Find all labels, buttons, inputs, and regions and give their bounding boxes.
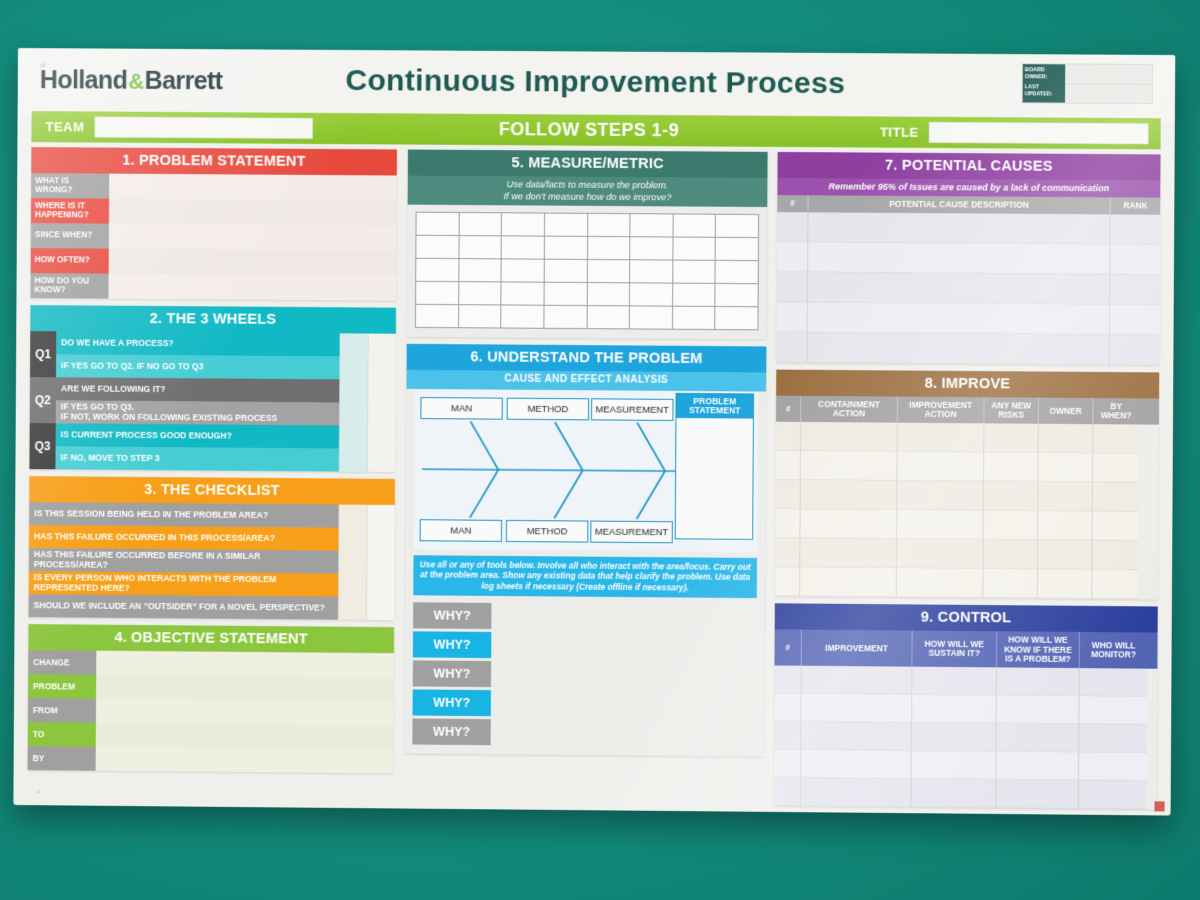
potential-causes-cell[interactable] — [777, 243, 807, 273]
board-owner-label: BOARD OWNER: — [1025, 67, 1063, 80]
section-2-yes-column[interactable] — [339, 333, 368, 471]
improve-cell[interactable] — [776, 451, 800, 480]
section-2-body: Q1Q2Q3 DO WE HAVE A PROCESS?IF YES GO TO… — [29, 331, 395, 472]
potential-causes-cell[interactable] — [1110, 215, 1161, 245]
section-3-checklist-item: HAS THIS FAILURE OCCURRED IN THIS PROCES… — [29, 525, 339, 551]
board-owner-input[interactable] — [1065, 64, 1152, 84]
section-1-row-label: HOW OFTEN? — [31, 248, 109, 274]
table-row — [775, 568, 1158, 600]
section-1-problem-statement: 1. PROBLEM STATEMENT WHAT IS WRONG?WHERE… — [30, 147, 396, 301]
measure-grid-cell[interactable] — [587, 283, 630, 306]
control-cell[interactable] — [1078, 724, 1147, 753]
measure-grid-cell[interactable] — [673, 237, 716, 260]
improve-col-header: CONTAINMENT ACTION — [800, 396, 897, 423]
section-2-title: 2. THE 3 WHEELS — [30, 305, 396, 334]
section-8-table-header: #CONTAINMENT ACTIONIMPROVEMENT ACTIONANY… — [776, 396, 1159, 425]
control-cell[interactable] — [1078, 752, 1147, 781]
column-right: 7. POTENTIAL CAUSES Remember 95% of Issu… — [774, 152, 1161, 816]
control-cell[interactable] — [774, 749, 800, 777]
table-row — [776, 451, 1159, 483]
measure-grid-row — [416, 212, 759, 237]
table-row — [775, 539, 1158, 571]
measure-grid-cell[interactable] — [587, 306, 630, 329]
title-label: TITLE — [866, 124, 929, 139]
why-label: WHY? — [413, 689, 491, 716]
control-cell[interactable] — [800, 750, 911, 779]
fishbone-effect-box[interactable]: PROBLEM STATEMENT — [675, 392, 754, 539]
why-input[interactable] — [491, 719, 756, 747]
why-label: WHY? — [413, 602, 491, 629]
potential-causes-cell[interactable] — [1109, 305, 1160, 335]
potential-causes-cell[interactable] — [1109, 245, 1160, 275]
improve-cell[interactable] — [1092, 483, 1139, 512]
table-row — [777, 243, 1160, 276]
measure-grid-cell[interactable] — [544, 305, 587, 328]
board-owner-labels: BOARD OWNER: LAST UPDATED: — [1023, 64, 1066, 102]
team-input[interactable] — [94, 116, 312, 138]
control-col-header: # — [775, 630, 801, 666]
table-row — [775, 510, 1158, 542]
potential-causes-cell[interactable] — [807, 333, 1109, 365]
section-1-row-label: WHERE IS IT HAPPENING? — [31, 198, 109, 224]
potential-causes-cell[interactable] — [777, 273, 807, 303]
improve-col-header: BY WHEN? — [1092, 398, 1139, 425]
improve-cell[interactable] — [799, 568, 896, 598]
measure-grid-cell[interactable] — [544, 236, 587, 259]
section-1-row: HOW OFTEN? — [31, 248, 397, 276]
control-cell[interactable] — [911, 666, 996, 695]
control-cell[interactable] — [774, 693, 800, 721]
section-2-statement: DO WE HAVE A PROCESS? — [56, 331, 340, 356]
measure-grid-cell[interactable] — [716, 237, 759, 260]
fishbone-diagram[interactable]: MAN METHOD MEASUREMENT MAN METHOD MEASUR… — [414, 388, 759, 551]
why-row: WHY? — [413, 660, 757, 689]
potential-causes-cell[interactable] — [777, 303, 807, 333]
section-4-row: TO — [28, 722, 394, 749]
measure-grid-row — [416, 235, 759, 260]
improve-col-header: ANY NEW RISKS — [983, 398, 1038, 425]
five-whys-list: WHY?WHY?WHY?WHY?WHY? — [404, 602, 764, 747]
measure-grid-cell[interactable] — [630, 260, 673, 283]
potential-causes-cell[interactable] — [777, 212, 807, 242]
control-cell[interactable] — [995, 780, 1078, 809]
section-2-statement-rows: DO WE HAVE A PROCESS?IF YES GO TO Q2. IF… — [55, 331, 339, 471]
team-label: TEAM — [31, 119, 94, 134]
control-cell[interactable] — [800, 665, 911, 694]
improve-cell[interactable] — [799, 539, 896, 569]
improve-cell[interactable] — [1092, 512, 1139, 541]
control-cell[interactable] — [800, 722, 911, 751]
table-row — [777, 303, 1160, 336]
section-2-three-wheels: 2. THE 3 WHEELS Q1Q2Q3 DO WE HAVE A PROC… — [29, 305, 396, 472]
measure-grid-cell[interactable] — [715, 306, 758, 329]
measure-grid-cell[interactable] — [416, 235, 459, 258]
improve-cell[interactable] — [776, 422, 800, 451]
control-cell[interactable] — [911, 694, 996, 723]
potential-causes-cell[interactable] — [776, 333, 806, 363]
table-row — [776, 333, 1159, 366]
why-label: WHY? — [413, 631, 491, 658]
section-8-title: 8. IMPROVE — [776, 370, 1159, 399]
measure-grid-cell[interactable] — [459, 236, 502, 259]
section-2-statement: IS CURRENT PROCESS GOOD ENOUGH? — [56, 423, 340, 448]
section-2-question-column: Q1Q2Q3 — [29, 331, 56, 469]
section-1-row: HOW DO YOU KNOW? — [30, 273, 396, 301]
measure-grid-cell[interactable] — [458, 259, 501, 282]
section-3-checklist-item: IS THIS SESSION BEING HELD IN THE PROBLE… — [29, 502, 339, 527]
measure-grid-cell[interactable] — [672, 306, 715, 329]
section-2-statement: IF NO, MOVE TO STEP 3 — [55, 446, 339, 471]
section-1-row: WHAT IS WRONG? — [31, 173, 397, 200]
table-row — [774, 721, 1157, 752]
measure-grid-cell[interactable] — [630, 283, 673, 306]
table-row — [774, 693, 1157, 724]
section-3-checklist: 3. THE CHECKLIST IS THIS SESSION BEING H… — [29, 476, 395, 620]
last-updated-input[interactable] — [1065, 84, 1152, 103]
section-7-title: 7. POTENTIAL CAUSES — [777, 152, 1160, 181]
section-4-row-input[interactable] — [96, 747, 394, 774]
section-4-title: 4. OBJECTIVE STATEMENT — [28, 624, 394, 653]
section-2-answer-columns[interactable] — [339, 333, 396, 472]
section-4-row-label: BY — [28, 746, 96, 771]
section-4-row: CHANGE — [28, 650, 394, 677]
control-cell[interactable] — [1078, 696, 1147, 725]
improve-cell[interactable] — [896, 452, 983, 482]
bone-bottom-3[interactable]: MEASUREMENT — [590, 520, 673, 543]
section-6-title: 6. UNDERSTAND THE PROBLEM — [407, 344, 767, 373]
improve-cell[interactable] — [1037, 482, 1092, 512]
section-3-answer-columns[interactable] — [338, 505, 395, 621]
section-2-statement: IF YES GO TO Q2. IF NO GO TO Q3 — [56, 354, 340, 379]
section-5-title: 5. MEASURE/METRIC — [408, 150, 768, 178]
section-2-statement: IF YES GO TO Q3. IF NOT, WORK ON FOLLOWI… — [56, 400, 340, 425]
control-col-header: HOW WILL WE KNOW IF THERE IS A PROBLEM? — [996, 632, 1079, 668]
measure-grid-cell[interactable] — [544, 282, 587, 305]
improve-cell[interactable] — [896, 510, 983, 540]
control-cell[interactable] — [995, 751, 1078, 780]
measure-grid-cell[interactable] — [416, 212, 459, 235]
control-col-header: WHO WILL MONITOR? — [1079, 632, 1148, 668]
column-left: 1. PROBLEM STATEMENT WHAT IS WRONG?WHERE… — [28, 147, 397, 780]
measure-grid-cell[interactable] — [715, 260, 758, 283]
control-cell[interactable] — [800, 778, 911, 807]
section-3-title: 3. THE CHECKLIST — [29, 476, 395, 505]
measure-grid-cell[interactable] — [673, 214, 716, 237]
bone-top-1[interactable]: MAN — [420, 397, 502, 420]
measure-grid-cell[interactable] — [587, 236, 630, 259]
measure-grid-cell[interactable] — [672, 283, 715, 306]
section-4-row-input[interactable] — [96, 675, 394, 702]
improve-col-header: OWNER — [1038, 398, 1093, 425]
section-3-body: IS THIS SESSION BEING HELD IN THE PROBLE… — [29, 502, 395, 620]
why-label: WHY? — [413, 660, 491, 687]
section-7-table-body[interactable] — [776, 212, 1160, 365]
control-cell[interactable] — [774, 721, 800, 749]
measure-grid-cell[interactable] — [587, 259, 630, 282]
improve-cell[interactable] — [983, 511, 1038, 541]
measure-grid-cell[interactable] — [587, 213, 630, 236]
measure-grid-cell[interactable] — [416, 281, 459, 304]
follow-steps-strip: TEAM FOLLOW STEPS 1-9 TITLE — [31, 111, 1160, 149]
board-photo: Holland&Barrett Continuous Improvement P… — [0, 0, 1200, 900]
section-1-row-input[interactable] — [109, 174, 397, 201]
improve-cell[interactable] — [775, 568, 799, 597]
section-9-table-body[interactable] — [774, 665, 1158, 809]
potential-causes-cell[interactable] — [807, 213, 1109, 245]
table-row — [775, 480, 1158, 512]
measure-grid-cell[interactable] — [501, 236, 544, 259]
measure-grid-cell[interactable] — [630, 214, 673, 237]
potential-causes-col-header: POTENTIAL CAUSE DESCRIPTION — [807, 196, 1109, 215]
section-3-checklist-item: IS EVERY PERSON WHO INTERACTS WITH THE P… — [29, 571, 339, 597]
why-input[interactable] — [491, 661, 756, 689]
section-2-statement: ARE WE FOLLOWING IT? — [56, 377, 340, 402]
section-4-row-input[interactable] — [96, 699, 394, 726]
why-row: WHY? — [413, 631, 757, 660]
improve-cell[interactable] — [1037, 512, 1092, 542]
section-3-checklist-item: SHOULD WE INCLUDE AN “OUTSIDER” FOR A NO… — [29, 594, 339, 620]
improve-cell[interactable] — [897, 423, 984, 453]
bone-top-3[interactable]: MEASUREMENT — [591, 398, 674, 421]
section-8-improve: 8. IMPROVE #CONTAINMENT ACTIONIMPROVEMEN… — [775, 370, 1159, 600]
column-middle: 5. MEASURE/METRIC Use data/facts to meas… — [404, 150, 767, 764]
bone-bottom-1[interactable]: MAN — [420, 519, 502, 542]
potential-causes-cell[interactable] — [807, 273, 1109, 305]
section-3-yes-column[interactable] — [338, 505, 367, 620]
improve-cell[interactable] — [1092, 425, 1139, 454]
section-1-rows: WHAT IS WRONG?WHERE IS IT HAPPENING?SINC… — [30, 173, 396, 301]
improve-cell[interactable] — [983, 453, 1038, 483]
measure-grid-cell[interactable] — [501, 282, 544, 305]
improve-col-header: IMPROVEMENT ACTION — [897, 397, 984, 424]
section-1-row-input[interactable] — [109, 199, 397, 226]
control-cell[interactable] — [996, 723, 1079, 752]
why-input[interactable] — [491, 690, 756, 718]
section-2-question-q2: Q2 — [30, 377, 56, 423]
section-5-grid[interactable] — [407, 205, 767, 340]
improve-cell[interactable] — [1091, 541, 1138, 571]
board-corner-mark — [1154, 801, 1164, 811]
section-4-row-input[interactable] — [96, 651, 394, 678]
potential-causes-cell[interactable] — [807, 243, 1109, 275]
section-1-row-input[interactable] — [109, 249, 397, 276]
section-2-question-q3: Q3 — [29, 423, 55, 469]
section-1-row-label: WHAT IS WRONG? — [31, 173, 109, 199]
section-1-row: WHERE IS IT HAPPENING? — [31, 198, 397, 225]
improve-cell[interactable] — [983, 424, 1038, 454]
table-row — [774, 749, 1157, 781]
section-2-question-q1: Q1 — [30, 331, 56, 377]
measure-grid-cell[interactable] — [673, 260, 716, 283]
section-8-table-body[interactable] — [775, 422, 1159, 600]
measure-grid-row — [416, 281, 759, 306]
improve-cell[interactable] — [982, 569, 1037, 599]
measure-grid-cell[interactable] — [630, 237, 673, 260]
improve-cell[interactable] — [983, 540, 1038, 570]
section-4-row: FROM — [28, 698, 394, 725]
control-cell[interactable] — [774, 778, 800, 806]
last-updated-label: LAST UPDATED: — [1025, 84, 1063, 97]
improve-cell[interactable] — [800, 422, 897, 452]
section-4-row-input[interactable] — [96, 723, 394, 750]
improve-cell[interactable] — [800, 481, 897, 511]
why-row: WHY? — [412, 718, 756, 747]
improve-cell[interactable] — [775, 510, 799, 539]
improve-cell[interactable] — [1037, 570, 1092, 600]
table-row — [774, 665, 1157, 696]
measure-grid-row — [415, 304, 758, 330]
control-cell[interactable] — [1079, 668, 1148, 697]
section-4-objective-statement: 4. OBJECTIVE STATEMENT CHANGEPROBLEMFROM… — [28, 624, 394, 773]
improve-cell[interactable] — [775, 539, 799, 568]
why-label: WHY? — [412, 718, 490, 745]
potential-causes-col-header: # — [777, 195, 807, 212]
section-1-title: 1. PROBLEM STATEMENT — [31, 147, 397, 175]
section-4-row-label: PROBLEM — [28, 674, 96, 699]
section-6-note: Use all or any of tools below. Involve a… — [413, 555, 757, 598]
measure-grid-cell[interactable] — [501, 305, 544, 328]
fishbone-effect-label: PROBLEM STATEMENT — [676, 393, 753, 419]
measure-grid-cell[interactable] — [544, 213, 587, 236]
control-cell[interactable] — [911, 779, 996, 808]
section-1-row-label: SINCE WHEN? — [31, 223, 109, 249]
board-owner-box[interactable]: BOARD OWNER: LAST UPDATED: — [1022, 63, 1153, 104]
why-input[interactable] — [491, 632, 756, 660]
control-cell[interactable] — [1078, 780, 1147, 809]
table-row — [774, 778, 1157, 810]
improve-cell[interactable] — [896, 540, 983, 570]
measure-grid-cell[interactable] — [715, 283, 758, 306]
section-9-control: 9. CONTROL #IMPROVEMENTHOW WILL WE SUSTA… — [774, 604, 1158, 809]
improve-cell[interactable] — [896, 481, 983, 511]
section-5-subtitle: Use data/facts to measure the problem. I… — [408, 176, 768, 207]
control-cell[interactable] — [996, 667, 1079, 696]
section-5-measure-metric: 5. MEASURE/METRIC Use data/facts to meas… — [407, 150, 768, 340]
measure-grid-table[interactable] — [415, 212, 759, 331]
section-3-item-rows: IS THIS SESSION BEING HELD IN THE PROBLE… — [29, 502, 339, 620]
section-4-row-label: FROM — [28, 698, 96, 723]
improve-col-header: # — [776, 396, 800, 422]
improve-cell[interactable] — [896, 569, 983, 599]
table-row — [776, 422, 1159, 454]
section-4-row-label: CHANGE — [28, 650, 96, 675]
measure-grid-cell[interactable] — [502, 213, 545, 236]
potential-causes-cell[interactable] — [807, 303, 1109, 335]
measure-grid-cell[interactable] — [544, 259, 587, 282]
measure-grid-cell[interactable] — [501, 259, 544, 282]
section-1-row-input[interactable] — [108, 274, 396, 301]
section-4-rows: CHANGEPROBLEMFROMTOBY — [28, 650, 394, 773]
measure-grid-cell[interactable] — [416, 258, 459, 281]
control-col-header: HOW WILL WE SUSTAIN IT? — [911, 631, 996, 667]
control-cell[interactable] — [996, 695, 1079, 724]
measure-grid-row — [416, 258, 759, 283]
section-4-row: BY — [28, 746, 394, 773]
follow-steps-text: FOLLOW STEPS 1-9 — [313, 118, 866, 143]
table-row — [777, 273, 1160, 306]
potential-causes-cell[interactable] — [1109, 275, 1160, 305]
why-row: WHY? — [413, 689, 757, 718]
section-1-row-label: HOW DO YOU KNOW? — [30, 273, 108, 299]
table-row — [777, 212, 1160, 245]
improve-cell[interactable] — [1092, 454, 1139, 483]
board-owner-fields — [1065, 64, 1152, 103]
improve-cell[interactable] — [799, 510, 896, 540]
why-input[interactable] — [491, 603, 756, 631]
measure-grid-cell[interactable] — [458, 282, 501, 305]
potential-causes-col-header: RANK — [1110, 198, 1161, 215]
section-4-row: PROBLEM — [28, 674, 394, 701]
section-2-no-column[interactable] — [367, 334, 396, 472]
bone-top-2[interactable]: METHOD — [507, 397, 589, 420]
section-1-row-input[interactable] — [109, 224, 397, 251]
improve-cell[interactable] — [983, 482, 1038, 512]
measure-grid-cell[interactable] — [716, 214, 759, 237]
measure-grid-cell[interactable] — [415, 304, 458, 327]
potential-causes-cell[interactable] — [1109, 335, 1160, 366]
title-input[interactable] — [929, 122, 1149, 144]
section-9-title: 9. CONTROL — [775, 604, 1158, 633]
improve-cell[interactable] — [1037, 453, 1092, 483]
measure-grid-cell[interactable] — [629, 306, 672, 329]
improve-cell[interactable] — [1091, 570, 1138, 600]
control-cell[interactable] — [911, 751, 996, 780]
section-3-checklist-item: HAS THIS FAILURE OCCURRED BEFORE IN A SI… — [29, 548, 339, 574]
section-1-row: SINCE WHEN? — [31, 223, 397, 251]
control-cell[interactable] — [800, 694, 911, 723]
control-col-header: IMPROVEMENT — [801, 630, 912, 666]
section-3-no-column[interactable] — [366, 505, 395, 620]
whiteboard: Holland&Barrett Continuous Improvement P… — [13, 48, 1175, 816]
section-4-row-label: TO — [28, 722, 96, 747]
control-cell[interactable] — [774, 665, 800, 693]
control-cell[interactable] — [911, 723, 996, 752]
page-title: Continuous Improvement Process — [18, 62, 1175, 103]
section-7-potential-causes: 7. POTENTIAL CAUSES Remember 95% of Issu… — [776, 152, 1160, 366]
improve-cell[interactable] — [1038, 424, 1093, 454]
bone-bottom-2[interactable]: METHOD — [506, 519, 588, 542]
measure-grid-cell[interactable] — [458, 305, 501, 328]
why-row: WHY? — [413, 602, 757, 631]
improve-cell[interactable] — [800, 452, 897, 482]
section-6-understand-the-problem: 6. UNDERSTAND THE PROBLEM CAUSE AND EFFE… — [404, 344, 766, 757]
measure-grid-cell[interactable] — [459, 212, 502, 235]
improve-cell[interactable] — [1037, 541, 1092, 571]
improve-cell[interactable] — [775, 480, 799, 509]
section-9-table-header: #IMPROVEMENTHOW WILL WE SUSTAIN IT?HOW W… — [775, 630, 1158, 669]
